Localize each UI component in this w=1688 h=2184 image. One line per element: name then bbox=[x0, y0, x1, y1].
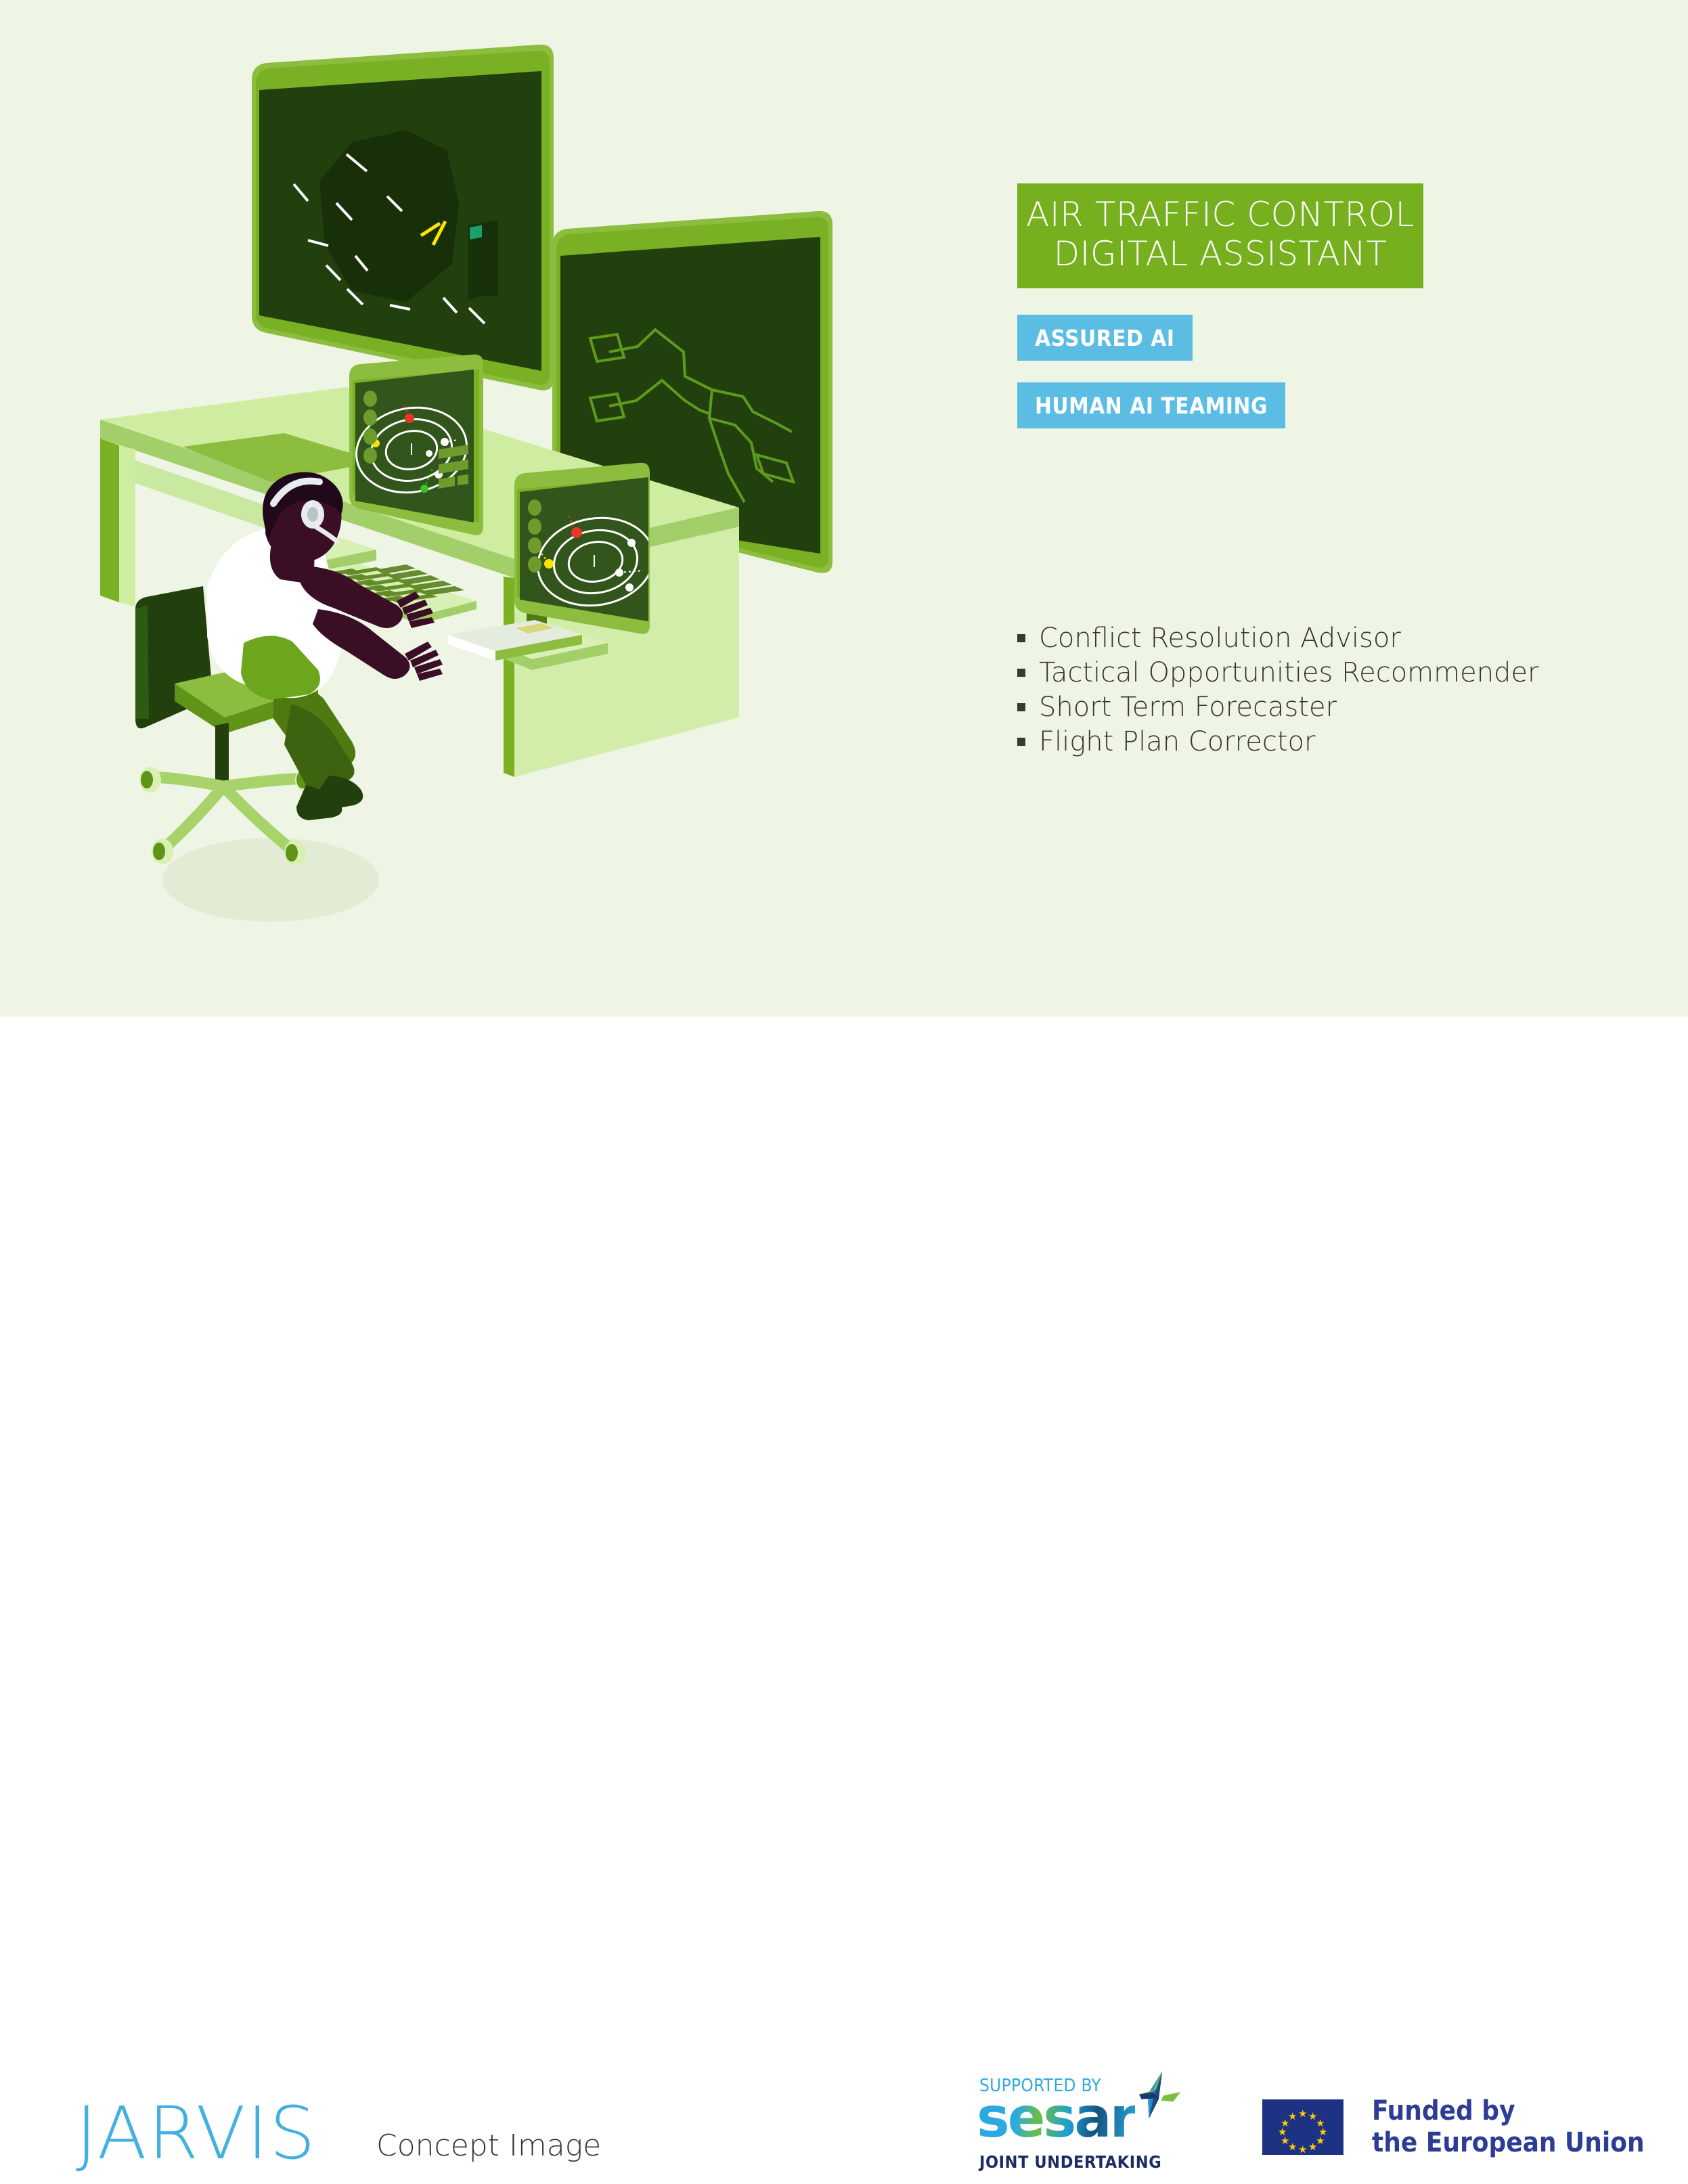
eu-funding-logo: ★ ★ ★ ★ ★ ★ ★ ★ ★ ★ ★ ★ Funded by the Eu… bbox=[1262, 2083, 1668, 2171]
list-item: Flight Plan Corrector bbox=[1017, 725, 1579, 759]
list-item: Short Term Forecaster bbox=[1017, 690, 1579, 725]
feature-list: Conflict Resolution Advisor Tactical Opp… bbox=[1017, 621, 1579, 759]
feature-label: Short Term Forecaster bbox=[1039, 690, 1337, 725]
bullet-square-icon bbox=[1017, 669, 1025, 677]
wall-screen-1 bbox=[252, 45, 554, 391]
footer-bar: JARVIS Concept Image SUPPORTED BY sesar … bbox=[0, 1017, 1688, 1211]
sesar-wordmark: sesar bbox=[977, 2091, 1135, 2146]
concept-image-caption: Concept Image bbox=[376, 2131, 601, 2161]
feature-label: Tactical Opportunities Recommender bbox=[1039, 656, 1539, 690]
title-line-1: AIR TRAFFIC CONTROL bbox=[1026, 195, 1415, 234]
eu-text-line-2: the European Union bbox=[1372, 2127, 1645, 2159]
title-line-2: DIGITAL ASSISTANT bbox=[1054, 234, 1387, 273]
jarvis-wordmark: JARVIS bbox=[76, 2098, 317, 2170]
eu-text-line-1: Funded by bbox=[1372, 2095, 1645, 2127]
sesar-star-icon bbox=[1127, 2068, 1188, 2129]
feature-label: Conflict Resolution Advisor bbox=[1039, 621, 1401, 656]
bullet-square-icon bbox=[1017, 703, 1025, 711]
eu-funding-text: Funded by the European Union bbox=[1372, 2095, 1645, 2159]
sesar-joint-undertaking-label: JOINT UNDERTAKING bbox=[979, 2152, 1161, 2172]
sesar-logo: SUPPORTED BY sesar JOINT UNDERTAKING bbox=[979, 2076, 1169, 2184]
list-item: Conflict Resolution Advisor bbox=[1017, 621, 1579, 656]
feature-label: Flight Plan Corrector bbox=[1039, 725, 1315, 759]
bullet-square-icon bbox=[1017, 634, 1025, 642]
eu-flag-icon: ★ ★ ★ ★ ★ ★ ★ ★ ★ ★ ★ ★ bbox=[1262, 2099, 1343, 2155]
badge-human-ai-teaming: HUMAN AI TEAMING bbox=[1017, 382, 1285, 428]
floor-shadow bbox=[162, 838, 379, 922]
list-item: Tactical Opportunities Recommender bbox=[1017, 656, 1579, 690]
main-title-block: AIR TRAFFIC CONTROL DIGITAL ASSISTANT bbox=[1017, 183, 1423, 288]
bullet-square-icon bbox=[1017, 738, 1025, 746]
atc-illustration bbox=[0, 0, 975, 988]
badge-assured-ai: ASSURED AI bbox=[1017, 315, 1193, 361]
poster-root: AIR TRAFFIC CONTROL DIGITAL ASSISTANT AS… bbox=[0, 0, 1688, 1211]
main-canvas: AIR TRAFFIC CONTROL DIGITAL ASSISTANT AS… bbox=[0, 0, 1688, 1017]
